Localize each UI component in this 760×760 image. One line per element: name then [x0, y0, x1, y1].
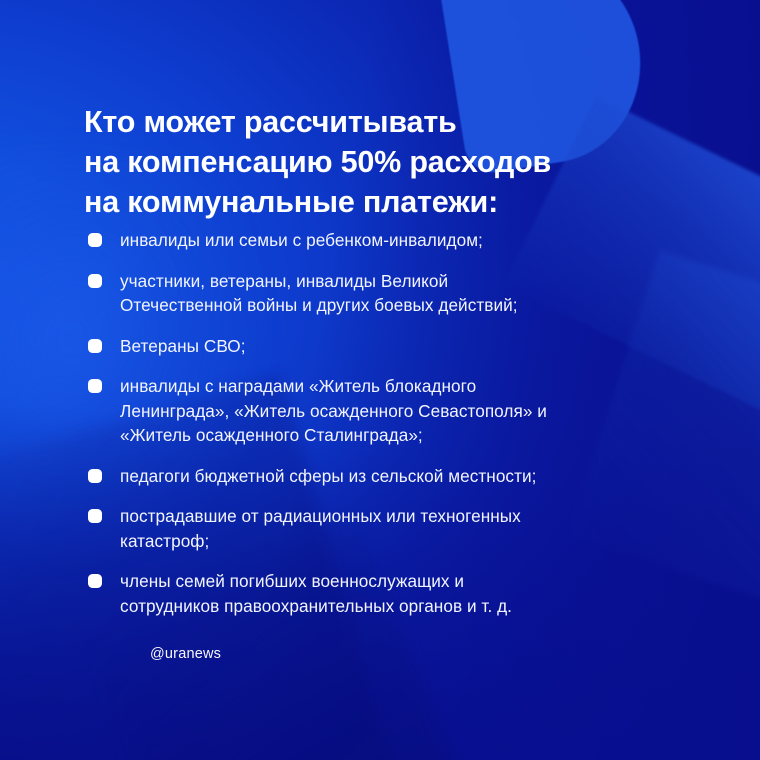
rounded-square-marker-icon — [88, 509, 102, 523]
list-item-line: инвалиды с наградами «Житель блокадного — [120, 374, 708, 399]
list-item-line: Отечественной войны и других боевых дейс… — [120, 293, 708, 318]
list-item: инвалиды с наградами «Житель блокадного … — [88, 374, 708, 448]
list-item-line: пострадавшие от радиационных или техноге… — [120, 504, 708, 529]
infographic-card: Кто может рассчитывать на компенсацию 50… — [0, 0, 760, 760]
list-item: участники, ветераны, инвалиды Великой От… — [88, 269, 708, 318]
rounded-square-marker-icon — [88, 233, 102, 247]
list-item: инвалиды или семьи с ребенком-инвалидом; — [88, 228, 708, 253]
list-item-line: «Житель осажденного Сталинграда»; — [120, 423, 708, 448]
list-item-line: участники, ветераны, инвалиды Великой — [120, 269, 708, 294]
list-item: члены семей погибших военнослужащих и со… — [88, 569, 708, 618]
list-item: педагоги бюджетной сферы из сельской мес… — [88, 464, 708, 489]
page-title-line-1: Кто может рассчитывать — [84, 102, 704, 142]
list-item-line: Ленинграда», «Житель осажденного Севасто… — [120, 399, 708, 424]
rounded-square-marker-icon — [88, 574, 102, 588]
rounded-square-marker-icon — [88, 379, 102, 393]
page-title-line-3: на коммунальные платежи: — [84, 182, 704, 222]
list-item: Ветераны СВО; — [88, 334, 708, 359]
rounded-square-marker-icon — [88, 339, 102, 353]
rounded-square-marker-icon — [88, 274, 102, 288]
list-item-line: члены семей погибших военнослужащих и — [120, 569, 708, 594]
rounded-square-marker-icon — [88, 469, 102, 483]
list-item: пострадавшие от радиационных или техноге… — [88, 504, 708, 553]
card-content: Кто может рассчитывать на компенсацию 50… — [0, 0, 760, 760]
list-item-line: катастроф; — [120, 529, 708, 554]
list-item-line: сотрудников правоохранительных органов и… — [120, 594, 708, 619]
page-title-line-2: на компенсацию 50% расходов — [84, 142, 704, 182]
list-item-line: Ветераны СВО; — [120, 334, 708, 359]
list-item-line: педагоги бюджетной сферы из сельской мес… — [120, 464, 708, 489]
eligibility-list: инвалиды или семьи с ребенком-инвалидом;… — [88, 228, 708, 618]
watermark-handle: @uranews — [150, 646, 221, 662]
page-title: Кто может рассчитывать на компенсацию 50… — [84, 102, 704, 222]
list-item-line: инвалиды или семьи с ребенком-инвалидом; — [120, 228, 708, 253]
